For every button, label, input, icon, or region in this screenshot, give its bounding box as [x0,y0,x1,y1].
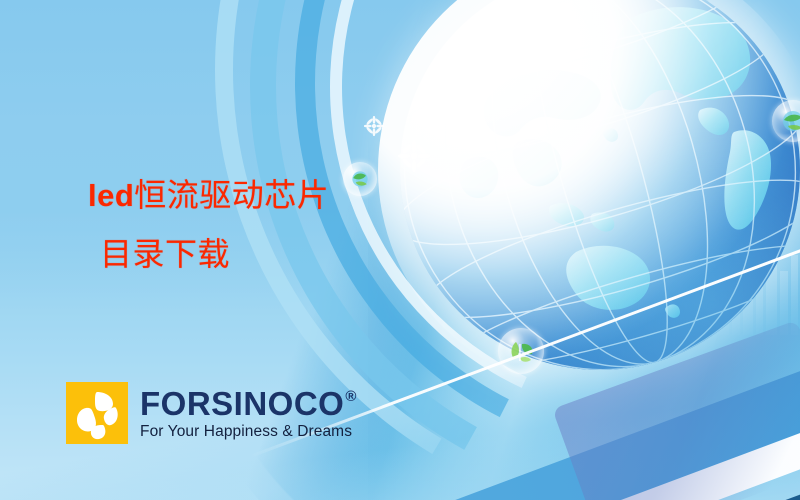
headline-line-1: led恒流驱动芯片 [88,166,329,225]
logo-tagline: For Your Happiness & Dreams [140,424,357,440]
flower-sparkle-large-icon [398,140,430,172]
banner-headline: led恒流驱动芯片 目录下载 [88,166,329,283]
bubble-globe-right-inner-icon [772,100,800,142]
logo-text-block: FORSINOCO ® For Your Happiness & Dreams [140,387,357,440]
bubble-leaf-inner-icon [498,328,544,374]
bubble-globe-icon [343,162,377,196]
headline-latin: led [88,178,134,213]
forsinoco-logo: FORSINOCO ® For Your Happiness & Dreams [66,382,357,444]
flower-sparkle-small-icon [364,116,384,136]
bubble-globe-inner-icon [343,162,377,196]
headline-cjk: 恒流驱动芯片 [134,177,329,213]
headline-line-2: 目录下载 [88,225,329,283]
forsinoco-pinwheel-mark-icon [66,382,128,444]
bubble-globe-icon-right [772,100,800,142]
bubble-leaf-icon [498,328,544,374]
registered-trademark-symbol: ® [345,389,357,404]
promotional-banner: led恒流驱动芯片 目录下载 FORSINOCO ® For Your Happ… [0,0,800,500]
logo-wordmark-text: FORSINOCO [140,387,344,420]
logo-wordmark: FORSINOCO ® [140,387,357,420]
